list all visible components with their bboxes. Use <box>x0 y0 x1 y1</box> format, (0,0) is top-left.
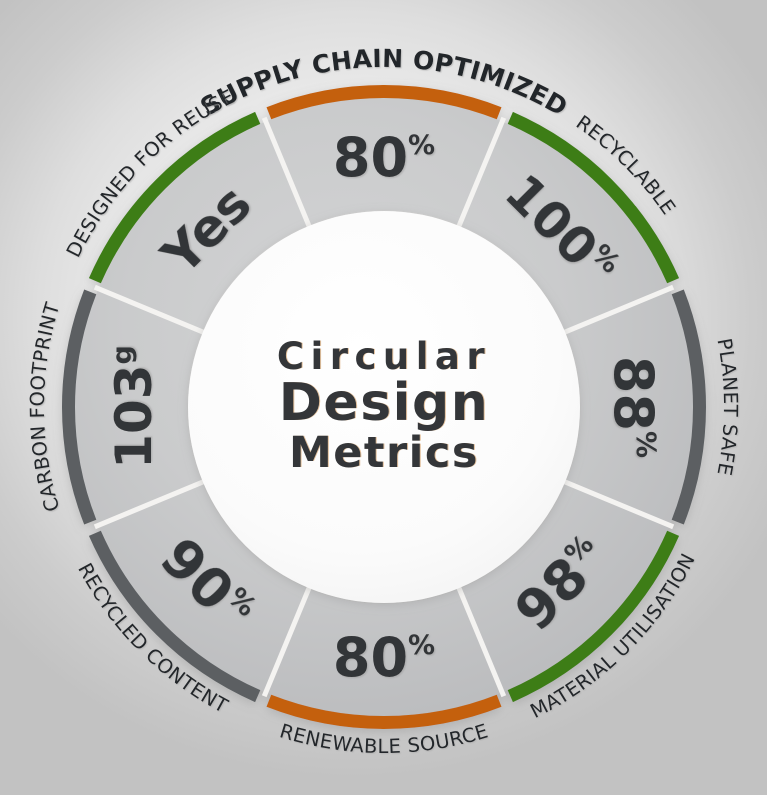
value-number: 103 <box>105 364 163 468</box>
value-unit: % <box>408 630 435 661</box>
value-unit: % <box>408 130 435 161</box>
label-carbon-footprint: CARBON FOOTPRINT <box>26 300 65 515</box>
value-number: 80 <box>333 626 408 689</box>
circular-metrics-donut: 80%100%88%98%80%90%103gYes SUPPLY CHAIN … <box>0 0 767 795</box>
value-unit: g <box>107 345 138 364</box>
value-number: 80 <box>333 126 408 189</box>
value-unit: % <box>631 431 662 458</box>
value-number: 88 <box>603 356 666 431</box>
infographic-canvas: 80%100%88%98%80%90%103gYes SUPPLY CHAIN … <box>0 0 767 795</box>
label-planet-safe: PLANET SAFE <box>712 336 742 477</box>
center-hub <box>188 211 580 603</box>
